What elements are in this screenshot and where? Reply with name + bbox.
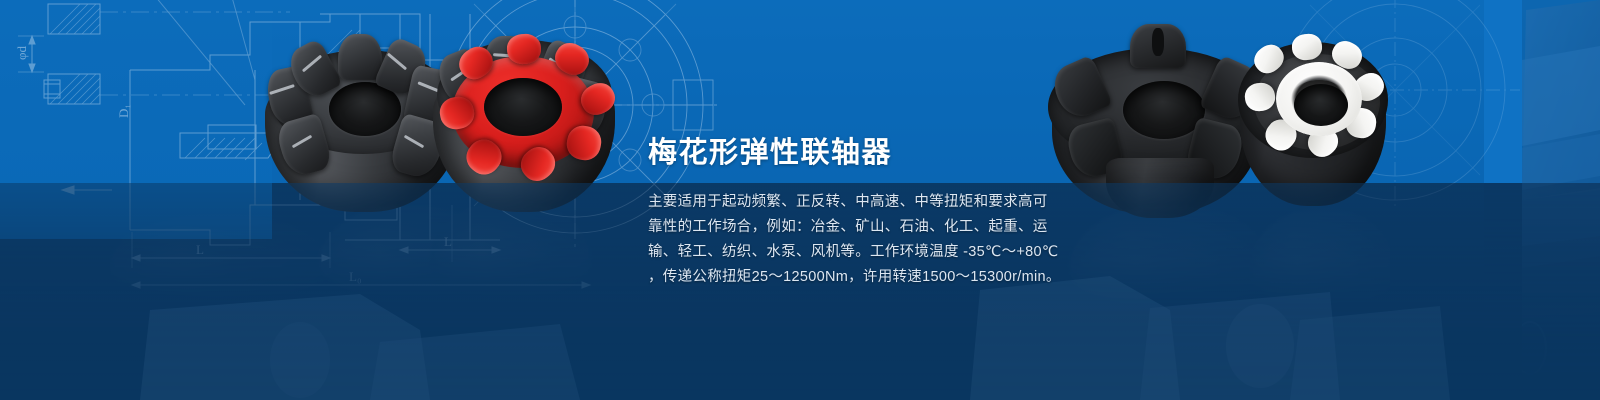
description-line-3: 输、轻工、纺织、水泵、风机等。工作环境温度 -35℃～+80℃: [648, 240, 1068, 265]
description-line-4: ，传递公称扭矩25～12500Nm，许用转速1500～15300r/min。: [648, 265, 1068, 290]
blueprint-label-D1: D₁: [116, 104, 131, 118]
product-banner: L L₀ L D D₁ φd: [0, 0, 1600, 400]
product-description: 主要适用于起动频繁、正反转、中高速、中等扭矩和要求高可 靠性的工作场合，例如：冶…: [648, 190, 1068, 290]
description-line-1: 主要适用于起动频繁、正反转、中高速、中等扭矩和要求高可: [648, 190, 1068, 215]
page-title: 梅花形弹性联轴器: [648, 139, 892, 168]
blueprint-label-phi-d: φd: [14, 45, 29, 60]
description-line-2: 靠性的工作场合，例如：冶金、矿山、石油、化工、起重、运: [648, 215, 1068, 240]
